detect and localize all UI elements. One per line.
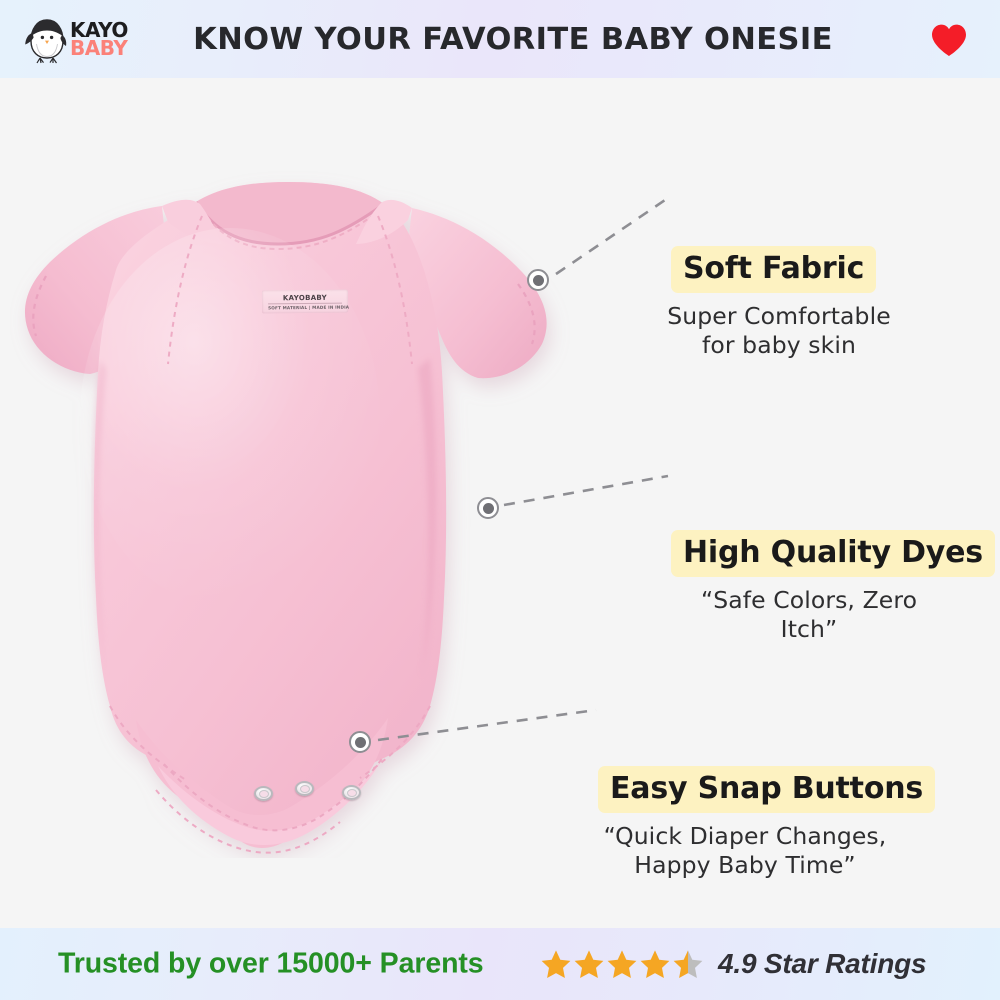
page-header: KAYO BABY KNOW YOUR FAVORITE BABY ONESIE — [0, 0, 1000, 78]
star-icon-full — [573, 948, 605, 980]
callout-label-high-quality-dyes: High Quality Dyes — [671, 530, 995, 577]
snap-button — [342, 785, 361, 800]
callout-easy-snap-buttons: Easy Snap Buttons “Quick Diaper Changes,… — [598, 766, 935, 881]
star-rating — [540, 948, 704, 980]
baby-onesie-image — [10, 158, 610, 858]
callout-description-line: for baby skin — [667, 331, 891, 360]
callout-description-line: “Quick Diaper Changes, — [598, 822, 892, 851]
callout-description-line: Happy Baby Time” — [598, 851, 892, 880]
star-icon-full — [540, 948, 572, 980]
garment-neck-label: KAYOBABY SOFT MATERIAL | MADE IN INDIA — [262, 290, 348, 314]
callout-high-quality-dyes: High Quality Dyes “Safe Colors, Zero Itc… — [671, 530, 995, 645]
callout-description-easy-snap-buttons: “Quick Diaper Changes, Happy Baby Time” — [598, 822, 892, 881]
rating-text: 4.9 Star Ratings — [718, 948, 926, 980]
heart-icon — [930, 23, 968, 57]
callout-soft-fabric: Soft Fabric Super Comfortable for baby s… — [671, 246, 891, 361]
callout-label-soft-fabric: Soft Fabric — [671, 246, 876, 293]
neck-label-sub: SOFT MATERIAL | MADE IN INDIA — [268, 302, 342, 310]
callout-description-soft-fabric: Super Comfortable for baby skin — [667, 302, 891, 361]
star-icon-full — [639, 948, 671, 980]
neck-label-brand: KAYOBABY — [283, 293, 327, 301]
callout-description-line: “Safe Colors, Zero Itch” — [669, 586, 949, 645]
snap-button — [295, 781, 314, 796]
callout-label-easy-snap-buttons: Easy Snap Buttons — [598, 766, 935, 813]
callout-description-line: Super Comfortable — [667, 302, 891, 331]
product-stage: KAYOBABY SOFT MATERIAL | MADE IN INDIA S… — [0, 78, 1000, 928]
page-title: KNOW YOUR FAVORITE BABY ONESIE — [0, 0, 1000, 78]
hotspot-easy-snap-buttons[interactable] — [349, 731, 371, 753]
callout-description-high-quality-dyes: “Safe Colors, Zero Itch” — [669, 586, 949, 645]
hotspot-soft-fabric[interactable] — [527, 269, 549, 291]
snap-button — [254, 786, 273, 801]
trust-badge-text: Trusted by over 15000+ Parents — [58, 948, 484, 981]
star-icon-half — [672, 948, 704, 980]
star-icon-full — [606, 948, 638, 980]
hotspot-high-quality-dyes[interactable] — [477, 497, 499, 519]
rating-block: 4.9 Star Ratings — [540, 948, 926, 980]
page-footer: Trusted by over 15000+ Parents — [0, 928, 1000, 1000]
